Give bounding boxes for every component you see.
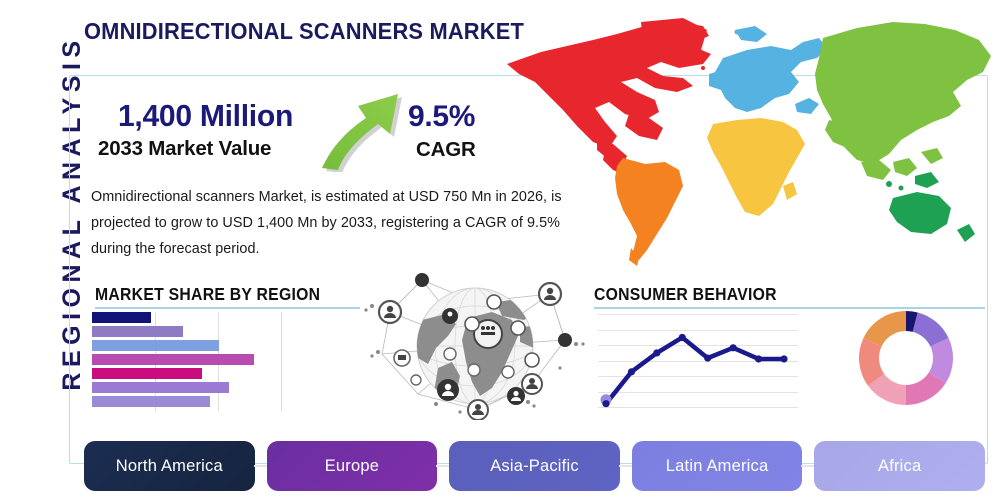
globe-network-icon [360, 272, 590, 420]
cagr-label: CAGR [416, 138, 476, 162]
market-share-bar-chart [92, 312, 282, 411]
bar-row [92, 382, 229, 393]
market-value-number: 1,400 Million [118, 98, 293, 134]
region-button-asia-pacific[interactable]: Asia-Pacific [449, 441, 620, 491]
infographic-root: REGIONAL ANALYSIS OMNIDIRECTIONAL SCANNE… [0, 0, 1000, 500]
region-connector [254, 465, 268, 467]
consumer-behavior-donut-chart [854, 306, 958, 410]
market-value-label: 2033 Market Value [98, 137, 271, 161]
growth-arrow-icon [318, 84, 404, 172]
region-button-label: Asia-Pacific [490, 457, 579, 476]
bar-row [92, 396, 210, 407]
bar-row [92, 326, 183, 337]
bar-gridline [281, 312, 282, 411]
region-button-label: Latin America [666, 457, 769, 476]
region-button-north-america[interactable]: North America [84, 441, 255, 491]
page-title: OMNIDIRECTIONAL SCANNERS MARKET [84, 18, 524, 45]
side-banner-label: REGIONAL ANALYSIS [52, 23, 92, 403]
region-button-label: North America [116, 457, 223, 476]
cagr-number: 9.5% [408, 100, 475, 134]
region-button-label: Europe [325, 457, 379, 476]
region-connector [619, 465, 633, 467]
bar-row [92, 368, 202, 379]
regions-legend: North AmericaEuropeAsia-PacificLatin Ame… [84, 441, 985, 491]
consumer-behavior-section-title: CONSUMER BEHAVIOR [594, 284, 777, 305]
region-connector [801, 465, 815, 467]
bar-row [92, 354, 254, 365]
bar-row [92, 340, 219, 351]
region-connector [436, 465, 450, 467]
bar-row [92, 312, 151, 323]
region-button-africa[interactable]: Africa [814, 441, 985, 491]
market-share-rule [95, 307, 360, 309]
world-map-icon [497, 12, 1000, 274]
region-button-label: Africa [878, 457, 921, 476]
market-share-section-title: MARKET SHARE BY REGION [95, 284, 320, 305]
region-button-latin-america[interactable]: Latin America [632, 441, 803, 491]
consumer-behavior-line-chart [598, 308, 798, 414]
region-button-europe[interactable]: Europe [267, 441, 438, 491]
